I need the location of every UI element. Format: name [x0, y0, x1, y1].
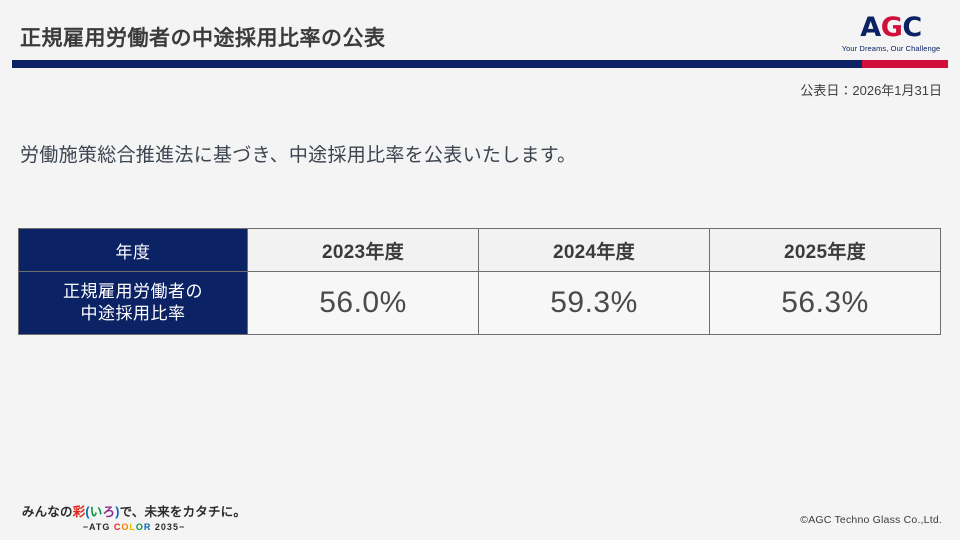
slogan-kana-i: い — [90, 505, 103, 519]
footer-slogan-block: みんなの彩(いろ)で、未来をカタチに。 −ATG COLOR 2035− — [14, 501, 254, 532]
slogan-text-part2: で、未来をカタチに。 — [120, 505, 247, 519]
logo-letter-a: A — [860, 12, 880, 43]
mid-career-ratio-table: 年度 2023年度 2024年度 2025年度 正規雇用労働者の 中途採用比率 … — [18, 228, 941, 335]
slogan-kana-ro: ろ — [103, 505, 116, 519]
logo-letter-c: C — [902, 12, 921, 43]
page-header: 正規雇用労働者の中途採用比率の公表 AGC Your Dreams, Our C… — [0, 0, 960, 72]
header-divider-rule — [12, 60, 948, 68]
footer-slogan-sub: −ATG COLOR 2035− — [14, 522, 254, 532]
slogan-sub-year: 2035 — [151, 522, 179, 532]
agc-logo: AGC Your Dreams, Our Challenge — [836, 14, 946, 53]
agc-logo-mark: AGC — [836, 14, 946, 41]
table-value-2025: 56.3% — [710, 272, 941, 335]
slogan-kanji-irodori: 彩 — [73, 505, 86, 519]
table-row-label-mid-career-ratio: 正規雇用労働者の 中途採用比率 — [19, 272, 248, 335]
table-header-year-2024: 2024年度 — [479, 229, 710, 272]
table-value-2024: 59.3% — [479, 272, 710, 335]
slogan-sub-letter-o2: O — [136, 522, 144, 532]
footer-slogan-main: みんなの彩(いろ)で、未来をカタチに。 — [14, 501, 254, 520]
page-title: 正規雇用労働者の中途採用比率の公表 — [20, 22, 386, 52]
table-row-label-line2: 中途採用比率 — [19, 303, 247, 325]
table-value-2023: 56.0% — [248, 272, 479, 335]
table-row-label-line1: 正規雇用労働者の — [19, 281, 247, 303]
table-header-year-2023: 2023年度 — [248, 229, 479, 272]
table-row: 正規雇用労働者の 中途採用比率 56.0% 59.3% 56.3% — [19, 272, 941, 335]
agc-logo-tagline: Your Dreams, Our Challenge — [836, 44, 946, 53]
slogan-sub-dash-right: − — [179, 522, 185, 532]
table-header-year-2025: 2025年度 — [710, 229, 941, 272]
copyright-notice: ©AGC Techno Glass Co.,Ltd. — [800, 514, 942, 526]
slogan-sub-atg: ATG — [89, 522, 114, 532]
slogan-text-part1: みんなの — [22, 505, 73, 519]
table-header-fiscal-year: 年度 — [19, 229, 248, 272]
header-rule-red-segment — [862, 60, 948, 68]
header-rule-navy-segment — [12, 60, 862, 68]
publish-date: 公表日：2026年1月31日 — [800, 80, 942, 99]
logo-letter-g: G — [881, 12, 903, 43]
lead-paragraph: 労働施策総合推進法に基づき、中途採用比率を公表いたします。 — [20, 140, 576, 167]
table-header-row: 年度 2023年度 2024年度 2025年度 — [19, 229, 941, 272]
